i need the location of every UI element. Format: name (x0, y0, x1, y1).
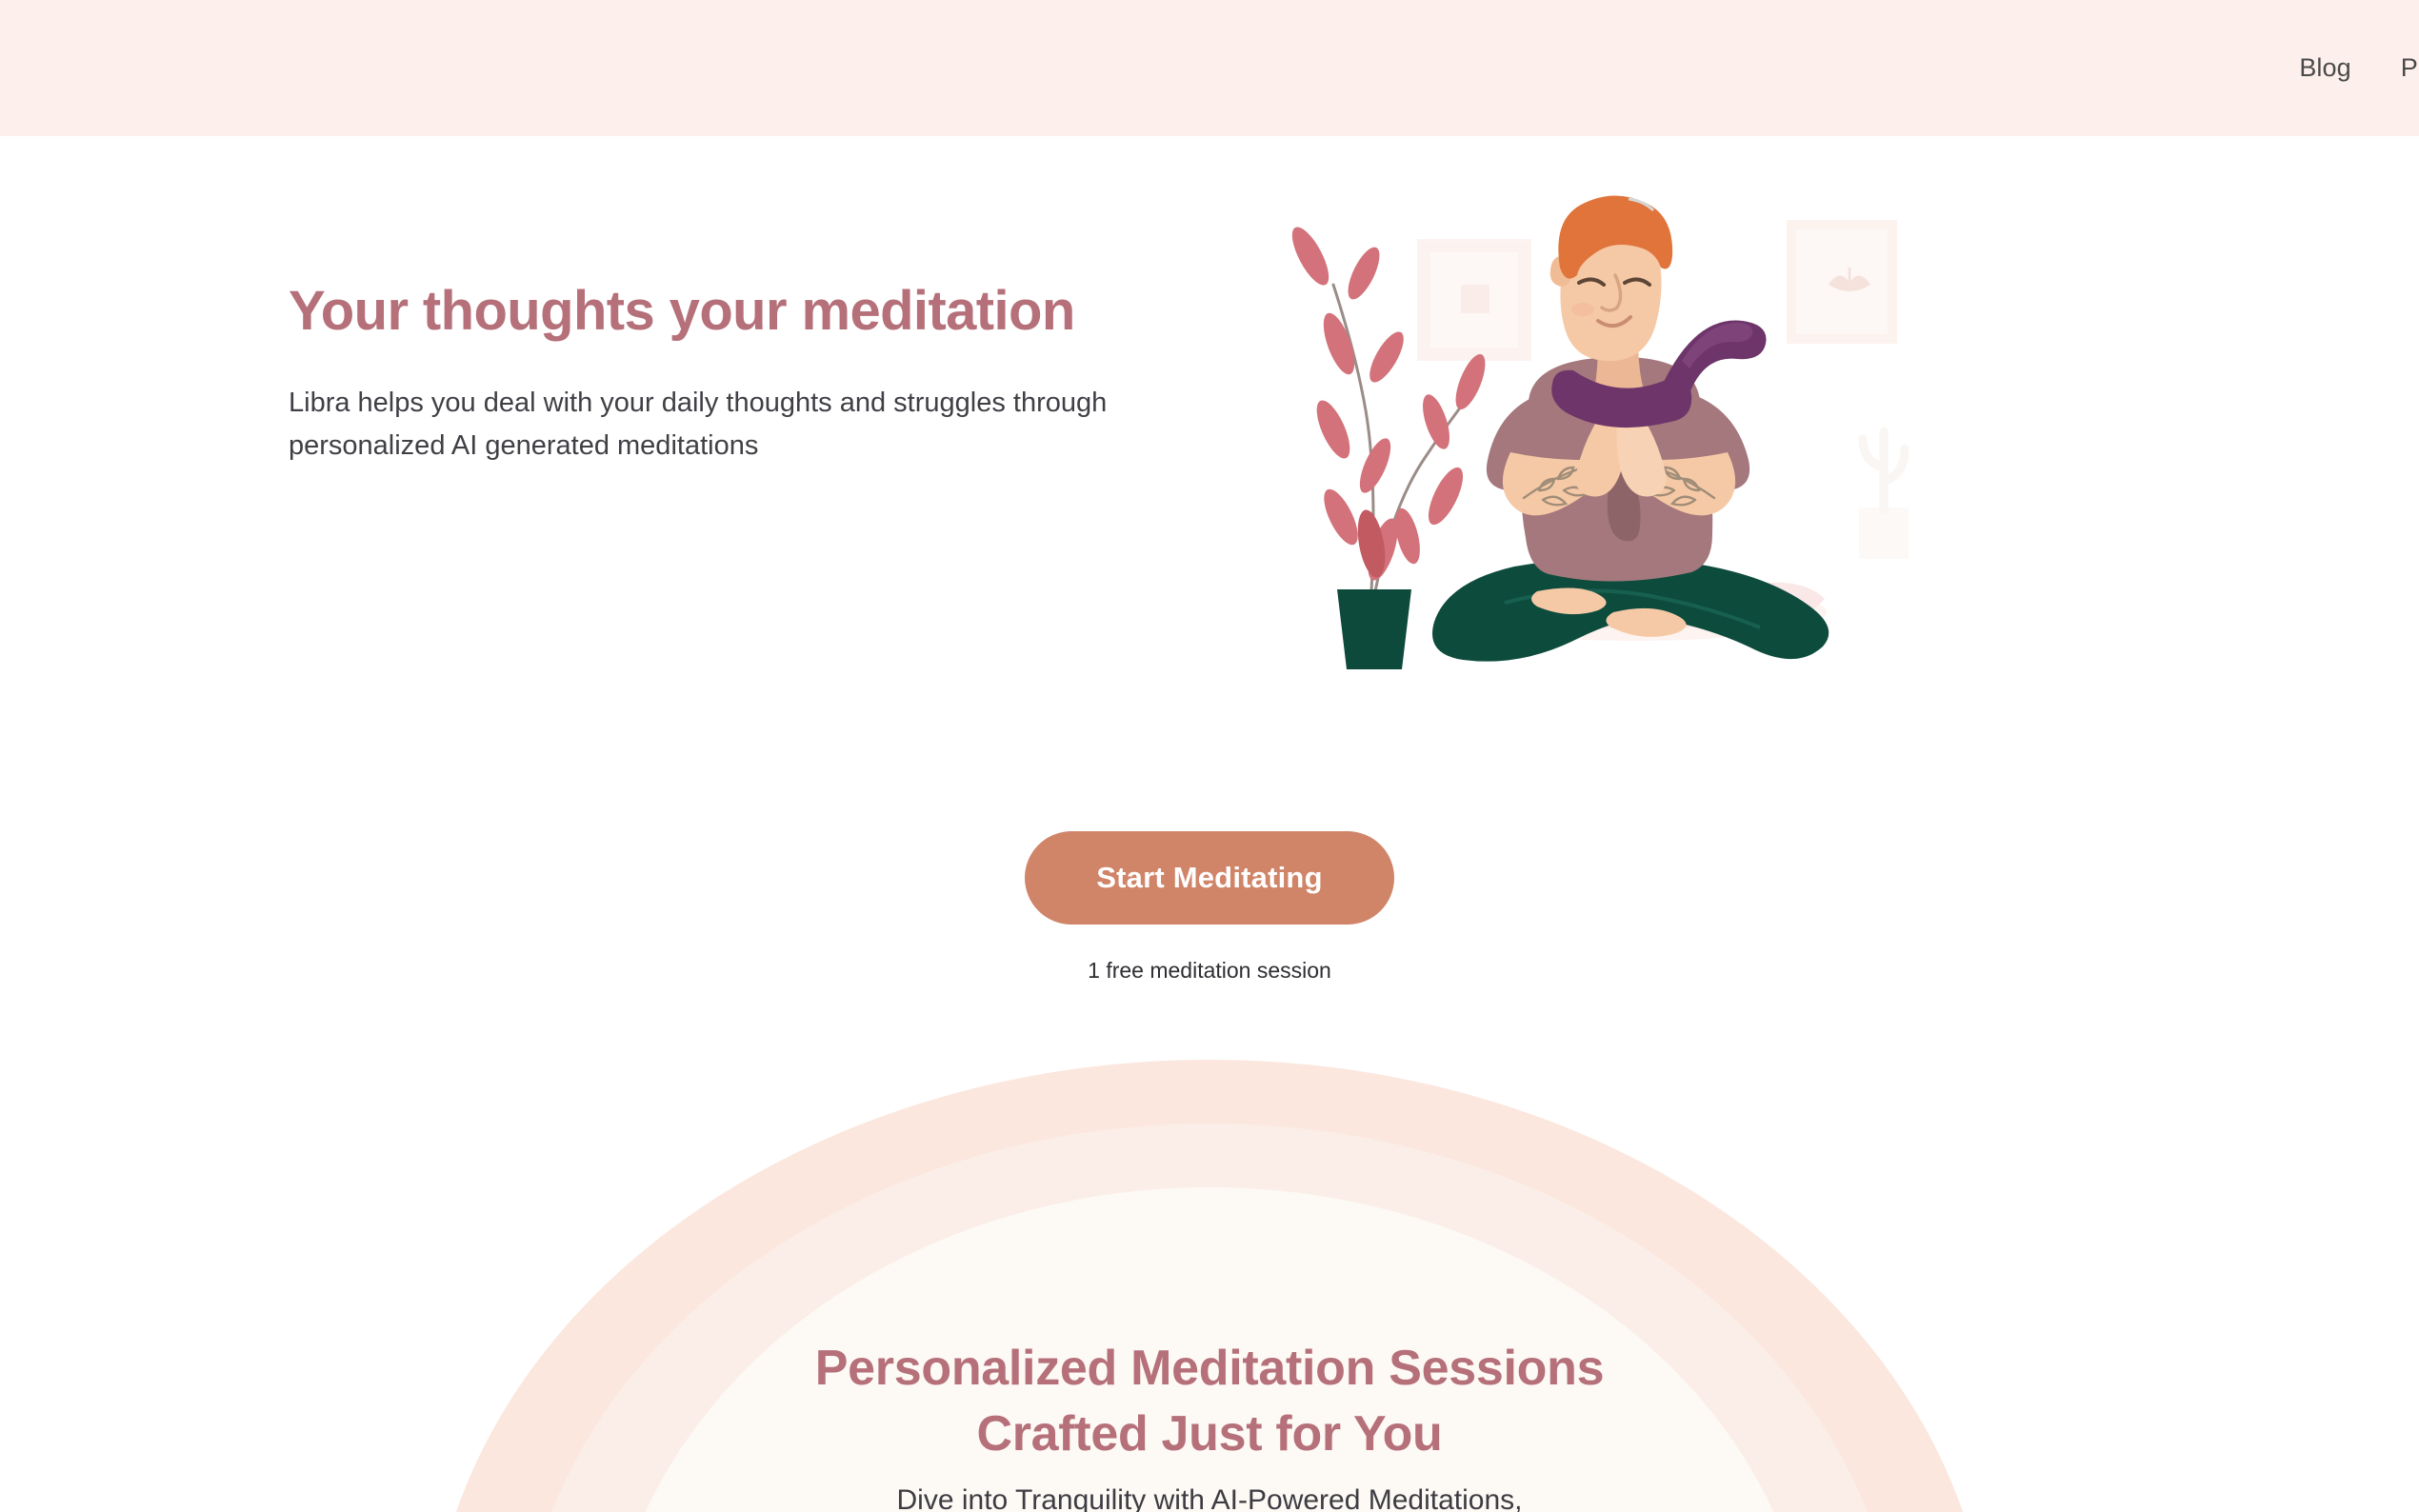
main-nav: Blog Pricing (2299, 53, 2419, 83)
nav-link-blog[interactable]: Blog (2299, 53, 2350, 83)
wall-cactus-icon (1859, 431, 1909, 559)
wall-frame-right-icon (1787, 220, 1897, 344)
page-root: Blog Pricing Your thoughts your meditati… (0, 0, 2419, 1512)
start-meditating-button[interactable]: Start Meditating (1025, 831, 1394, 925)
hero-copy: Your thoughts your meditation Libra help… (289, 279, 1241, 467)
features-heading-line1: Personalized Meditation Sessions (815, 1341, 1604, 1396)
site-header: Blog Pricing (0, 0, 2419, 136)
wall-frame-left-icon (1417, 239, 1531, 361)
features-heading-line2: Crafted Just for You (976, 1406, 1442, 1462)
nav-link-pricing[interactable]: Pricing (2401, 53, 2419, 83)
features-subtitle: Dive into Tranquility with AI-Powered Me… (0, 1479, 2419, 1512)
hero-section: Your thoughts your meditation Libra help… (0, 136, 2419, 1098)
free-session-note: 1 free meditation session (0, 958, 2419, 984)
meditating-person-illustration (1284, 193, 1989, 784)
hero-subtitle: Libra helps you deal with your daily tho… (289, 382, 1150, 466)
features-section: Personalized Meditation Sessions Crafted… (0, 1024, 2419, 1512)
cta-block: Start Meditating 1 free meditation sessi… (0, 831, 2419, 984)
features-heading: Personalized Meditation Sessions Crafted… (0, 1336, 2419, 1466)
hero-title: Your thoughts your meditation (289, 279, 1241, 344)
